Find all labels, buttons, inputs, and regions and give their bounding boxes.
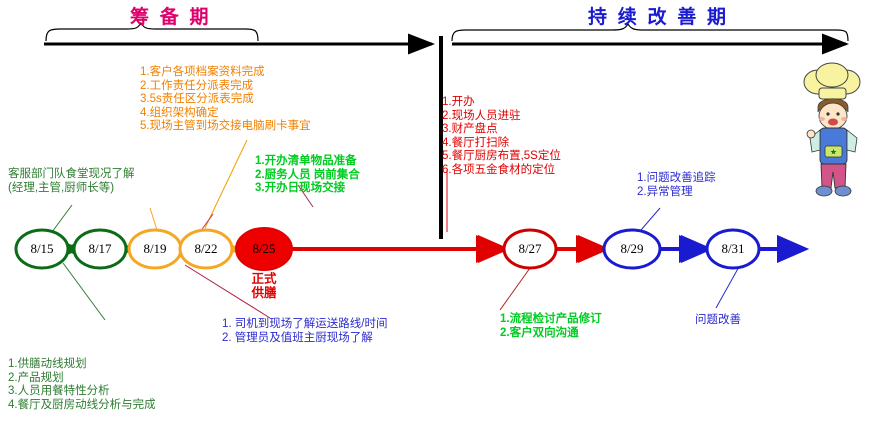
node-label-8-17: 8/17 bbox=[70, 241, 130, 257]
phase-title-prep: 筹 备 期 bbox=[130, 2, 212, 29]
note-line: 3.财产盘点 bbox=[442, 123, 561, 137]
node-label-8-29: 8/29 bbox=[602, 241, 662, 257]
node-caption-formal-meal: 正式 供膳 bbox=[219, 272, 309, 300]
leader-n4-above bbox=[200, 214, 213, 232]
note-n4-above: 1.开办清单物品准备2.厨务人员 岗前集合3.开办日现场交接 bbox=[255, 155, 360, 196]
node-label-8-31: 8/31 bbox=[703, 241, 763, 257]
leader-n3-above bbox=[150, 208, 157, 230]
note-line: 5.餐厅厨房布置,5S定位 bbox=[442, 150, 561, 164]
note-line: 2.异常管理 bbox=[637, 186, 716, 200]
note-line: 客服部门队食堂现况了解 bbox=[8, 168, 135, 182]
note-line: 1. 司机到现场了解运送路线/时间 bbox=[222, 318, 387, 332]
note-line: 1.流程检讨产品修订 bbox=[500, 313, 602, 327]
chef-hat-icon bbox=[804, 63, 860, 99]
note-n6-below: 1.流程检讨产品修订2.客户双向沟通 bbox=[500, 313, 602, 340]
leader-n1-below bbox=[63, 263, 105, 320]
note-line: 1.供膳动线规划 bbox=[8, 358, 156, 372]
note-n1-below: 1.供膳动线规划2.产品规划3.人员用餐特性分析4.餐厅及厨房动线分析与完成 bbox=[8, 358, 156, 412]
note-line: 2. 管理员及值班主厨现场了解 bbox=[222, 332, 387, 346]
leader-n6-below bbox=[500, 268, 530, 310]
note-n4-below: 1. 司机到现场了解运送路线/时间2. 管理员及值班主厨现场了解 bbox=[222, 318, 387, 345]
note-n5-right: 1.开办2.现场人员进驻3.财产盘点4.餐厅打扫除5.餐厅厨房布置,5S定位6.… bbox=[442, 96, 561, 177]
note-n7-above: 1.问题改善追踪2.异常管理 bbox=[637, 172, 716, 199]
leader-n3b-above bbox=[205, 140, 247, 228]
note-n2-above: 客服部门队食堂现况了解(经理,主管,厨师长等) bbox=[8, 168, 135, 195]
caption-line-1: 正式 bbox=[251, 272, 276, 286]
node-label-8-15: 8/15 bbox=[12, 241, 72, 257]
note-line: 1.问题改善追踪 bbox=[637, 172, 716, 186]
svg-text:★: ★ bbox=[830, 148, 837, 157]
note-line: (经理,主管,厨师长等) bbox=[8, 182, 135, 196]
caption-line-2: 供膳 bbox=[251, 286, 276, 300]
note-line: 2.现场人员进驻 bbox=[442, 110, 561, 124]
note-line: 4.餐厅及厨房动线分析与完成 bbox=[8, 399, 156, 413]
phase-title-improve: 持 续 改 善 期 bbox=[588, 2, 729, 29]
chef-pants-icon bbox=[821, 164, 846, 188]
note-line: 1.开办 bbox=[442, 96, 561, 110]
timeline-diagram: 筹 备 期 持 续 改 善 期 8/158/178/198/228/258/27… bbox=[0, 0, 880, 430]
note-line: 1.开办清单物品准备 bbox=[255, 155, 360, 169]
note-n3-above: 1.客户各项档案资料完成2.工作责任分派表完成3.5s责任区分派表完成4.组织架… bbox=[140, 66, 311, 134]
note-n8-below: 问题改善 bbox=[695, 314, 741, 328]
note-line: 3.5s责任区分派表完成 bbox=[140, 93, 311, 107]
note-line: 4.组织架构确定 bbox=[140, 107, 311, 121]
leader-n8-below bbox=[716, 265, 740, 308]
note-line: 3.开办日现场交接 bbox=[255, 182, 360, 196]
node-label-8-25: 8/25 bbox=[234, 241, 294, 257]
note-line: 5.现场主管到场交接电脑刷卡事宜 bbox=[140, 120, 311, 134]
leader-n7-above bbox=[641, 208, 660, 230]
node-label-8-22: 8/22 bbox=[176, 241, 236, 257]
note-line: 4.餐厅打扫除 bbox=[442, 137, 561, 151]
note-line: 2.厨务人员 岗前集合 bbox=[255, 169, 360, 183]
chef-mascot-icon: ★ bbox=[800, 60, 866, 210]
node-label-8-27: 8/27 bbox=[500, 241, 560, 257]
leader-n2-above bbox=[52, 205, 72, 232]
note-line: 问题改善 bbox=[695, 314, 741, 328]
note-line: 2.工作责任分派表完成 bbox=[140, 80, 311, 94]
note-line: 2.产品规划 bbox=[8, 372, 156, 386]
note-line: 1.客户各项档案资料完成 bbox=[140, 66, 311, 80]
note-line: 3.人员用餐特性分析 bbox=[8, 385, 156, 399]
note-line: 6.各项五金食材的定位 bbox=[442, 164, 561, 178]
note-line: 2.客户双向沟通 bbox=[500, 327, 602, 341]
